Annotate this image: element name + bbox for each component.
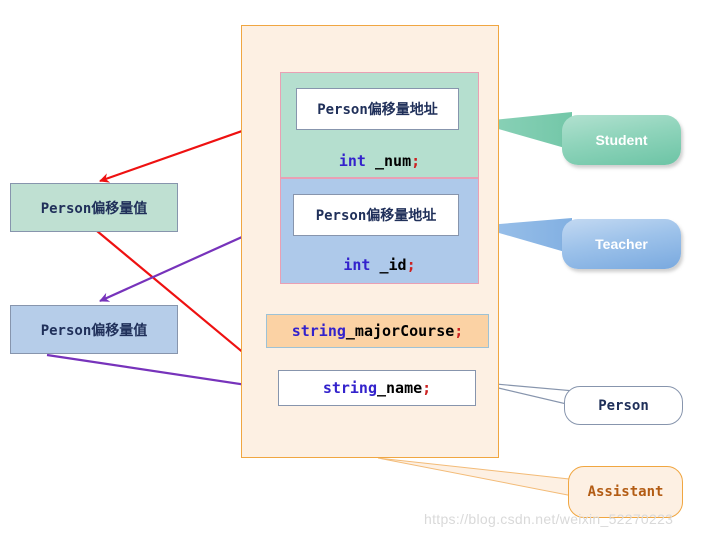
address-box-teacher: Person偏移量地址 [293,194,459,236]
field-terminator: ; [422,379,431,397]
member-keyword: int [343,256,370,274]
field-name: _name [377,379,422,397]
watermark: https://blog.csdn.net/weixin_52270223 [424,511,673,527]
member-name: _id [370,256,406,274]
member-field-id: int _id; [280,256,479,274]
offset-value-box-blue: Person偏移量值 [10,305,178,354]
field-terminator: ; [454,322,463,340]
member-field-num: int _num; [280,152,479,170]
member-terminator: ; [407,256,416,274]
callout-teacher: Teacher [562,219,681,269]
address-box-student: Person偏移量地址 [296,88,459,130]
callout-person: Person [564,386,683,425]
member-terminator: ; [411,152,420,170]
field-box-major-course: string _majorCourse; [266,314,489,348]
member-keyword: int [339,152,366,170]
diagram-canvas: Person偏移量地址 int _num; Person偏移量地址 int _i… [0,0,705,539]
offset-value-box-green: Person偏移量值 [10,183,178,232]
field-keyword: string [292,322,346,340]
callout-tail-assistant [378,458,578,497]
member-name: _num [366,152,411,170]
callout-student: Student [562,115,681,165]
field-box-name: string _name; [278,370,476,406]
field-keyword: string [323,379,377,397]
field-name: _majorCourse [346,322,454,340]
